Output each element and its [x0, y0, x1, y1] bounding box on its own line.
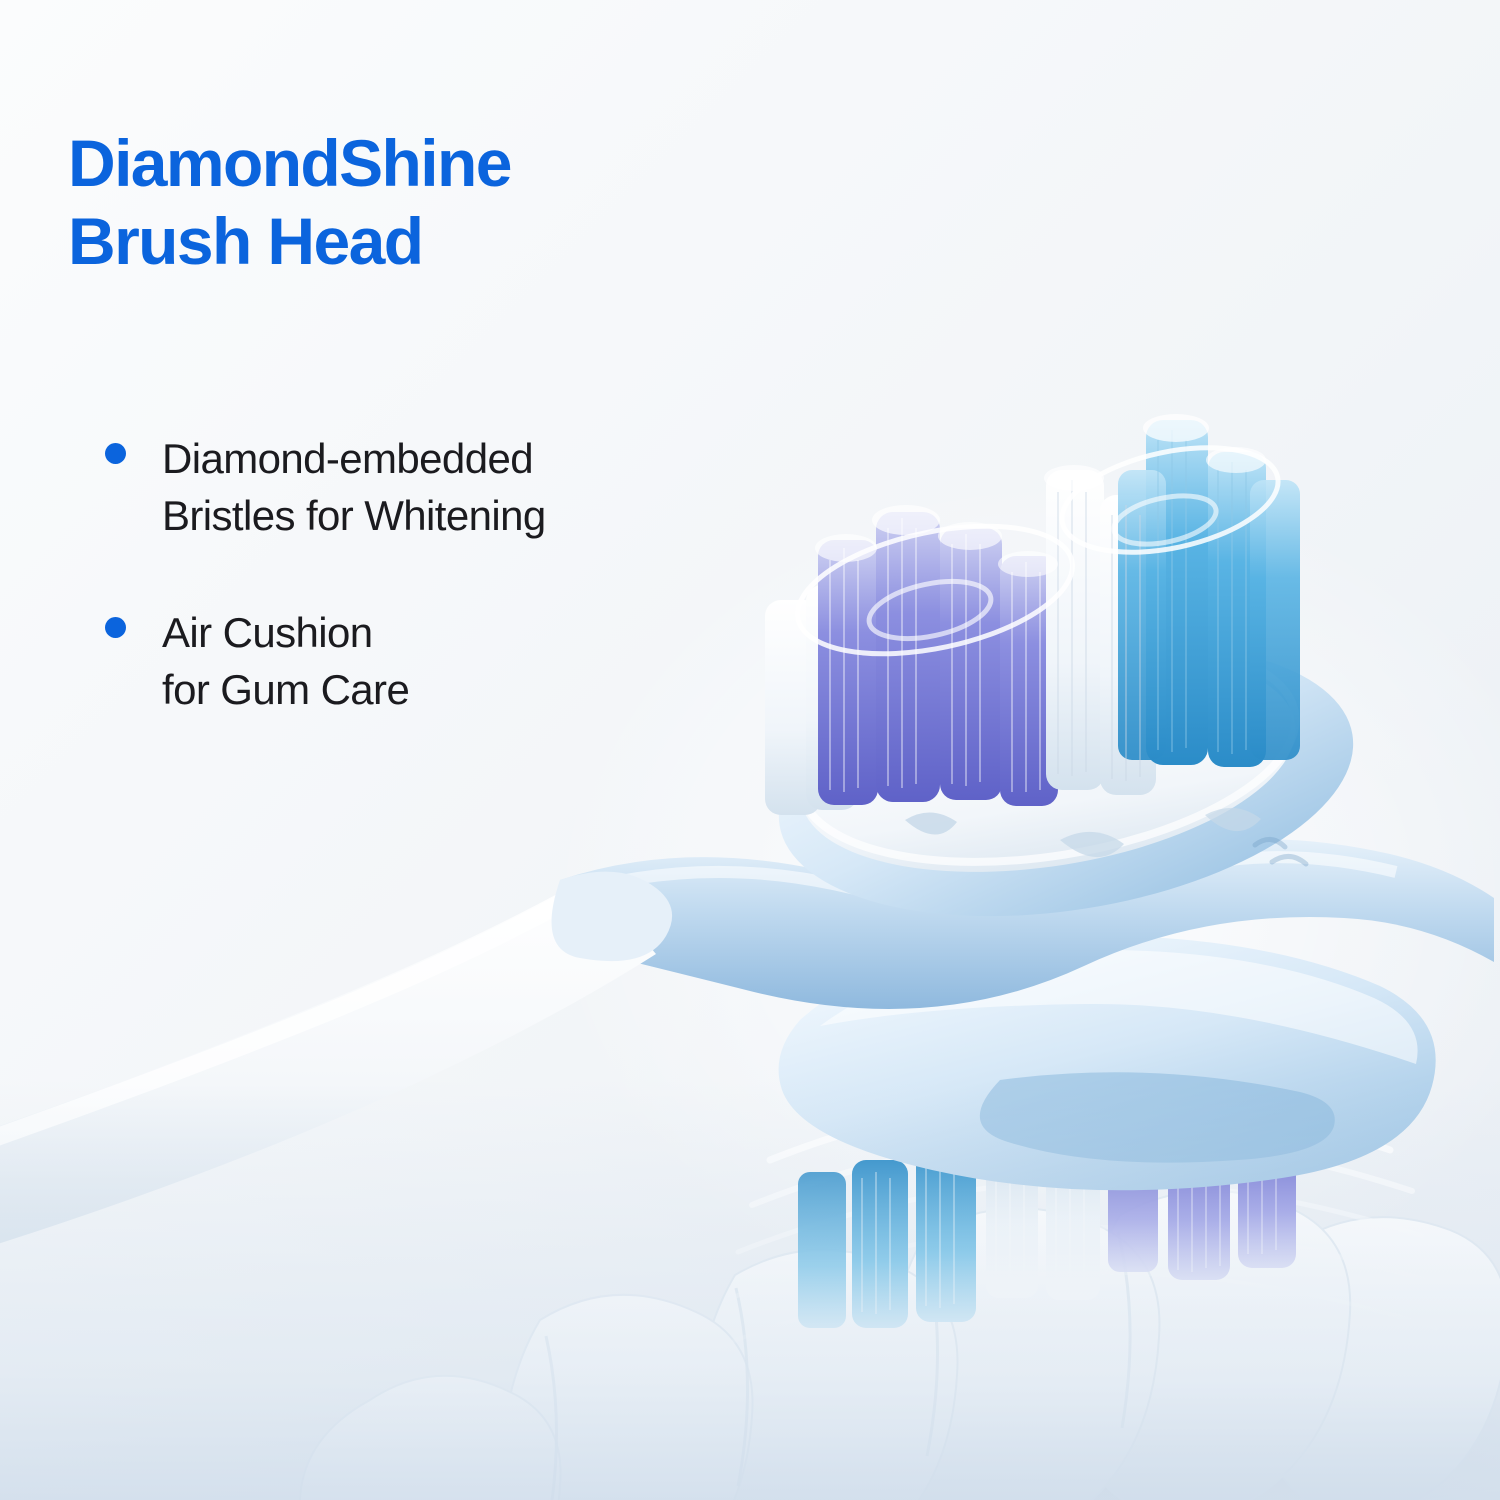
page-title: DiamondShine Brush Head: [68, 125, 828, 281]
list-item: Air Cushion for Gum Care: [100, 604, 740, 718]
feature-text: Diamond-embedded Bristles for Whitening: [162, 430, 740, 544]
vibration-rings-upper: [786, 430, 1288, 676]
headline-line-2: Brush Head: [68, 203, 828, 281]
product-feature-banner: DiamondShine Brush Head Diamond-embedded…: [0, 0, 1500, 1500]
feature-list: Diamond-embedded Bristles for Whitening …: [100, 430, 740, 778]
headline-line-1: DiamondShine: [68, 126, 511, 200]
feature-text: Air Cushion for Gum Care: [162, 604, 740, 718]
list-item: Diamond-embedded Bristles for Whitening: [100, 430, 740, 544]
bullet-dot-icon: [105, 617, 126, 638]
brush-neck: [560, 839, 1494, 1009]
bullet-dot-icon: [105, 443, 126, 464]
bristles-upper: [765, 414, 1300, 815]
brush-head-plate: [759, 606, 1373, 954]
shell-emboss: [1255, 839, 1306, 864]
floor-gradient: [0, 1080, 1500, 1500]
